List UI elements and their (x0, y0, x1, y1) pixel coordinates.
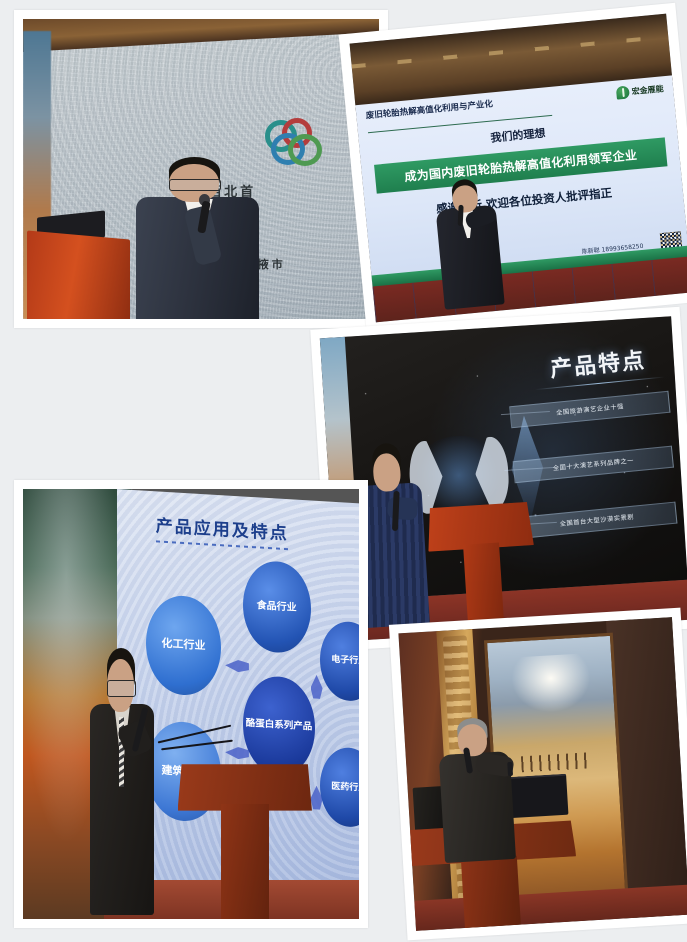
camel-caravan (521, 753, 591, 773)
photo-panel-2[interactable]: 废旧轮胎热解高值化利用与产业化 宏金雁能 我们的理想 成为国内废旧轮胎热解高值化… (339, 3, 687, 333)
leaf-icon (616, 86, 630, 100)
speaker-figure (437, 716, 517, 863)
brand-name: 宏金雁能 (631, 83, 664, 97)
speaker-figure (90, 648, 154, 915)
glasses-icon (107, 680, 136, 697)
panel-1-image: 打造西北首 张掖市 (23, 19, 379, 319)
photo-panel-4[interactable]: 产品应用及特点 化工行业 食品行业 酪蛋白系列产品 建筑行业 电子行业 医药行业 (14, 480, 368, 928)
photo-panel-1[interactable]: 打造西北首 张掖市 (14, 10, 388, 328)
speaker-figure (133, 157, 261, 319)
panel-4-image: 产品应用及特点 化工行业 食品行业 酪蛋白系列产品 建筑行业 电子行业 医药行业 (23, 489, 359, 919)
microphone (457, 205, 463, 226)
photo-collage: 打造西北首 张掖市 (0, 0, 687, 942)
lectern (178, 764, 312, 919)
podium (27, 230, 130, 319)
panel-3-image: 产品特点 全国旅游演艺企业十强 全国十大演艺系列品牌之一 全国首台大型沙漠实景剧 (320, 316, 687, 642)
lectern (426, 502, 539, 636)
glasses-icon (169, 179, 221, 191)
cloud-pattern-logo-icon (265, 118, 323, 158)
slide-header-title: 废旧轮胎热解高值化利用与产业化 (365, 98, 493, 122)
speaker-figure (433, 176, 505, 310)
projection-slide: 废旧轮胎热解高值化利用与产业化 宏金雁能 我们的理想 成为国内废旧轮胎热解高值化… (355, 75, 687, 289)
photo-panel-5[interactable] (389, 608, 687, 941)
company-logo: 宏金雁能 (616, 82, 664, 99)
panel-2-image: 废旧轮胎热解高值化利用与产业化 宏金雁能 我们的理想 成为国内废旧轮胎热解高值化… (350, 14, 687, 323)
panel-5-image (398, 617, 687, 931)
